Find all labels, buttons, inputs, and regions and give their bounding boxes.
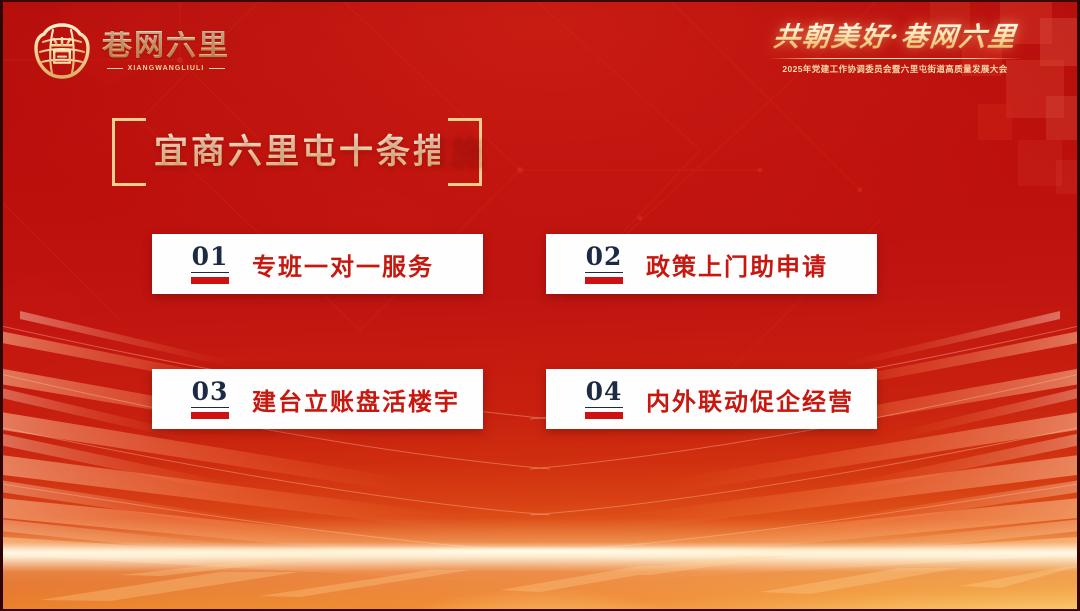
- measure-number: 04: [586, 379, 623, 404]
- presentation-slide: 巷网六里 XIANGWANGLIULI 共朝美好·巷网六里 2025年党建工作协…: [0, 0, 1080, 611]
- measure-number-rule: [585, 407, 623, 409]
- measure-number-bar: [585, 277, 623, 284]
- measure-label: 政策上门助申请: [646, 247, 828, 282]
- measure-number-rule: [191, 272, 229, 274]
- measure-number-bar: [585, 412, 623, 419]
- measure-card-02[interactable]: 02 政策上门助申请: [546, 234, 877, 294]
- measure-card-03[interactable]: 03 建台立账盘活楼宇: [152, 369, 483, 429]
- measure-card-01[interactable]: 01 专班一对一服务: [152, 234, 483, 294]
- measure-number-bar: [191, 277, 229, 284]
- measure-label: 内外联动促企经营: [646, 382, 854, 417]
- measure-number-rule: [585, 272, 623, 274]
- measure-number-block: 03: [174, 379, 246, 420]
- measure-number: 03: [192, 379, 229, 404]
- measure-card-04[interactable]: 04 内外联动促企经营: [546, 369, 877, 429]
- measure-number-rule: [191, 407, 229, 409]
- measures-grid: 01 专班一对一服务 02 政策上门助申请 03 建台立账盘活楼宇: [0, 0, 1080, 611]
- measure-label: 建台立账盘活楼宇: [252, 382, 460, 417]
- measure-number: 01: [192, 244, 229, 269]
- measure-label: 专班一对一服务: [252, 247, 434, 282]
- measure-number-block: 02: [568, 244, 640, 285]
- measure-number-block: 04: [568, 379, 640, 420]
- measure-number-bar: [191, 412, 229, 419]
- measure-number-block: 01: [174, 244, 246, 285]
- measure-number: 02: [586, 244, 623, 269]
